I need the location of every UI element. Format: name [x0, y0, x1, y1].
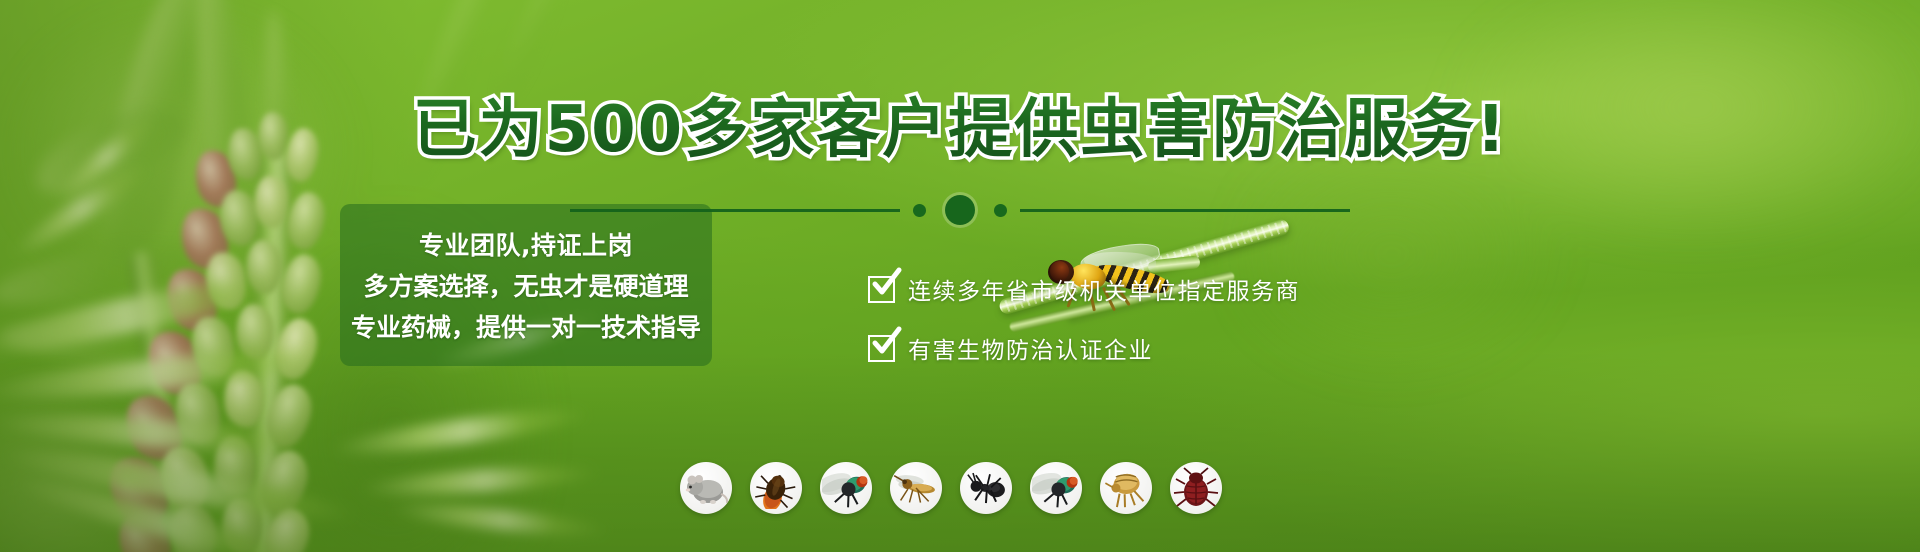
checkbox-checked-icon	[868, 335, 895, 362]
headline-label: 已为500多家客户提供虫害防治服务!	[413, 93, 1508, 167]
banner-headline: 已为500多家客户提供虫害防治服务! 已为500多家客户提供虫害防治服务!	[0, 78, 1920, 170]
blowfly-icon[interactable]	[1030, 462, 1082, 514]
cockroach-icon[interactable]	[750, 462, 802, 514]
flea-icon[interactable]	[1100, 462, 1152, 514]
background-vignette-bottom	[0, 352, 1920, 552]
panel-line-2: 多方案选择，无虫才是硬道理	[363, 267, 688, 303]
fly-icon[interactable]	[820, 462, 872, 514]
ant-icon[interactable]	[960, 462, 1012, 514]
panel-line-3: 专业药械，提供一对一技术指导	[351, 308, 701, 344]
checklist-item-label: 连续多年省市级机关单位指定服务商	[908, 272, 1300, 306]
headline-text-wrapper: 已为500多家客户提供虫害防治服务! 已为500多家客户提供虫害防治服务!	[413, 78, 1508, 170]
divider-line-right	[1020, 209, 1350, 212]
checklist-item-label: 有害生物防治认证企业	[908, 331, 1153, 365]
checkbox-checked-icon	[868, 276, 895, 303]
divider-dot-small	[994, 204, 1007, 217]
hero-banner: 已为500多家客户提供虫害防治服务! 已为500多家客户提供虫害防治服务! 专业…	[0, 0, 1920, 552]
background-bokeh-right	[1240, 0, 1920, 380]
mosquito-icon[interactable]	[890, 462, 942, 514]
bedbug-icon[interactable]	[1170, 462, 1222, 514]
selling-points-panel: 专业团队,持证上岗 多方案选择，无虫才是硬道理 专业药械，提供一对一技术指导	[340, 204, 712, 366]
divider-dot-small	[913, 204, 926, 217]
pest-icon-row	[680, 462, 1222, 514]
divider-line-left	[570, 209, 900, 212]
checklist-item: 有害生物防治认证企业	[868, 331, 1300, 365]
checklist-item: 连续多年省市级机关单位指定服务商	[868, 272, 1300, 306]
credentials-checklist: 连续多年省市级机关单位指定服务商 有害生物防治认证企业	[868, 272, 1300, 365]
panel-line-1: 专业团队,持证上岗	[419, 226, 633, 262]
divider-dot-large	[945, 195, 975, 225]
headline-divider	[0, 195, 1920, 225]
mouse-icon[interactable]	[680, 462, 732, 514]
